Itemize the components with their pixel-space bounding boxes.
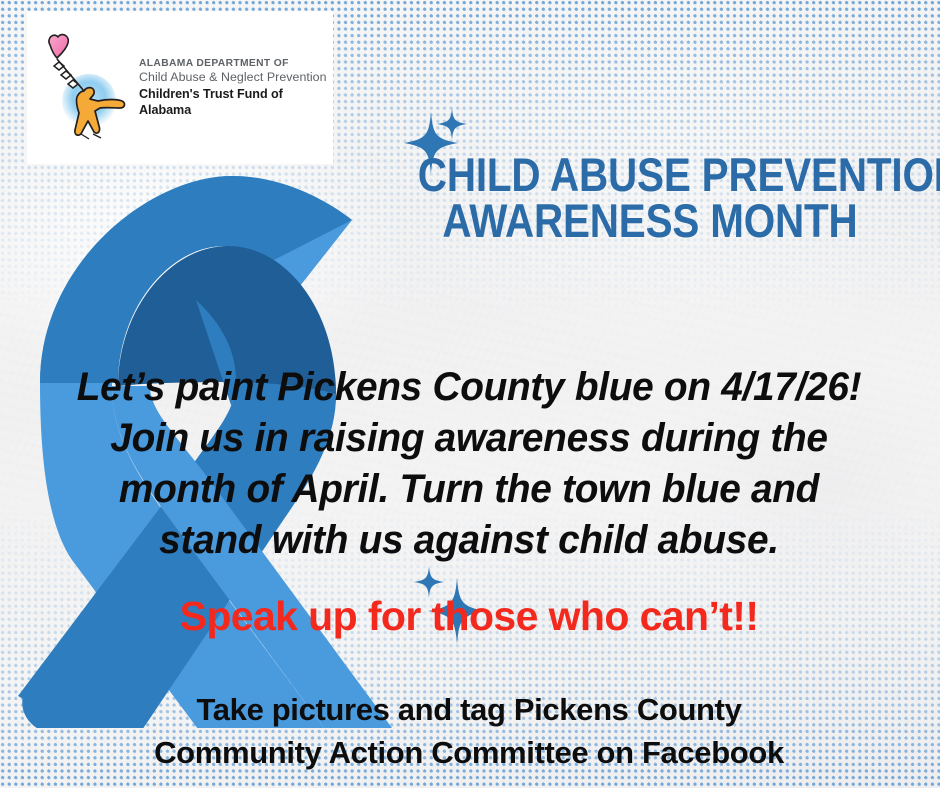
body-message: Let’s paint Pickens County blue on 4/17/… xyxy=(22,362,916,566)
body-line-2: Join us in raising awareness during the xyxy=(22,413,916,464)
awareness-poster: ALABAMA DEPARTMENT OF Child Abuse & Negl… xyxy=(0,0,940,788)
call-to-action-text: Speak up for those who can’t!! xyxy=(8,592,930,640)
body-line-3: month of April. Turn the town blue and xyxy=(22,464,916,515)
headline-line-2: AWARENESS MONTH xyxy=(418,198,882,244)
footer-line-1: Take pictures and tag Pickens County xyxy=(8,688,930,731)
footer-instructions: Take pictures and tag Pickens County Com… xyxy=(8,688,930,774)
logo-text-block: ALABAMA DEPARTMENT OF Child Abuse & Negl… xyxy=(139,57,333,118)
footer-line-2: Community Action Committee on Facebook xyxy=(8,731,930,774)
body-line-1: Let’s paint Pickens County blue on 4/17/… xyxy=(22,362,916,413)
logo-line-department: ALABAMA DEPARTMENT OF xyxy=(139,57,333,70)
body-line-4: stand with us against child abuse. xyxy=(22,515,916,566)
logo-line-org-name: Children's Trust Fund of Alabama xyxy=(139,86,333,118)
headline-line-1: CHILD ABUSE PREVENTION & xyxy=(418,152,882,198)
page-title: CHILD ABUSE PREVENTION & AWARENESS MONTH xyxy=(418,152,882,244)
logo-line-program: Child Abuse & Neglect Prevention xyxy=(139,70,333,86)
child-with-heart-balloon-logo-icon xyxy=(37,29,133,147)
organization-logo-card: ALABAMA DEPARTMENT OF Child Abuse & Negl… xyxy=(27,11,333,164)
